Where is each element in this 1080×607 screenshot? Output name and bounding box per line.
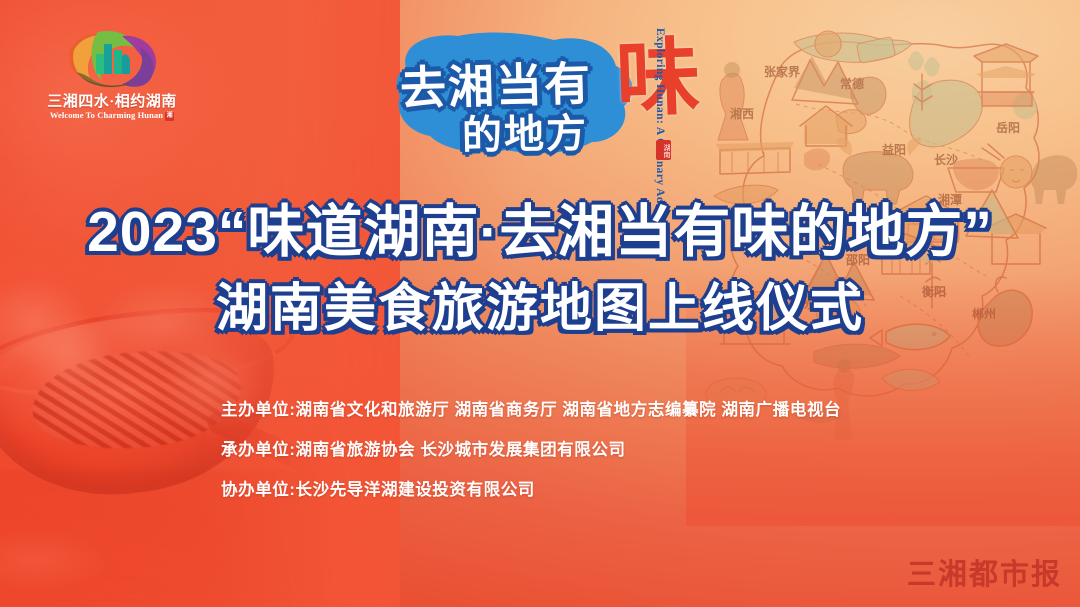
svg-text:益阳: 益阳 xyxy=(882,142,906,157)
brand-line-2: 的地方 xyxy=(462,101,589,161)
credits-block: 主办单位:湖南省文化和旅游厅 湖南省商务厅 湖南省地方志编纂院 湖南广播电视台 … xyxy=(221,396,841,516)
poster-subheadline: 湖南美食旅游地图上线仪式 xyxy=(0,266,1080,341)
tourism-logo-en-text: Welcome To Charming Hunan xyxy=(50,110,163,120)
brand-english-vertical: Exploring Hunan: A Culinary Adventure 湖南 xyxy=(654,28,676,164)
tourism-logo-en: Welcome To Charming Hunan湘 xyxy=(46,110,178,121)
svg-text:长沙: 长沙 xyxy=(934,152,958,167)
tourism-logo-cn: 三湘四水·相约湖南 xyxy=(46,90,178,111)
svg-text:岳阳: 岳阳 xyxy=(996,120,1020,135)
tourism-logo-seal: 湘 xyxy=(165,112,174,121)
svg-text:湘西: 湘西 xyxy=(730,106,754,121)
newspaper-logo: 三湘都市报 xyxy=(907,551,1062,593)
poster-canvas: .ln{fill:none;stroke:#C9582E;stroke-widt… xyxy=(0,0,1080,607)
hunan-tourism-logo: 三湘四水·相约湖南 Welcome To Charming Hunan湘 xyxy=(46,28,178,128)
credit-line-cohosts: 协办单位:长沙先导洋湖建设投资有限公司 xyxy=(221,476,841,500)
svg-text:张家界: 张家界 xyxy=(764,64,800,79)
svg-text:常德: 常德 xyxy=(840,76,864,91)
credit-line-hosts: 承办单位:湖南省旅游协会 长沙城市发展集团有限公司 xyxy=(221,436,841,460)
poster-headline: 2023“味道湖南·去湘当有味的地方” xyxy=(0,186,1080,268)
hunan-tourism-swirl-icon xyxy=(60,28,164,90)
credit-line-organizers: 主办单位:湖南省文化和旅游厅 湖南省商务厅 湖南省地方志编纂院 湖南广播电视台 xyxy=(221,396,841,420)
campaign-brand-lockup: 去湘当有 的地方 味 Exploring Hunan: A Culinary A… xyxy=(386,22,696,168)
brand-seal: 湖南 xyxy=(656,140,671,160)
